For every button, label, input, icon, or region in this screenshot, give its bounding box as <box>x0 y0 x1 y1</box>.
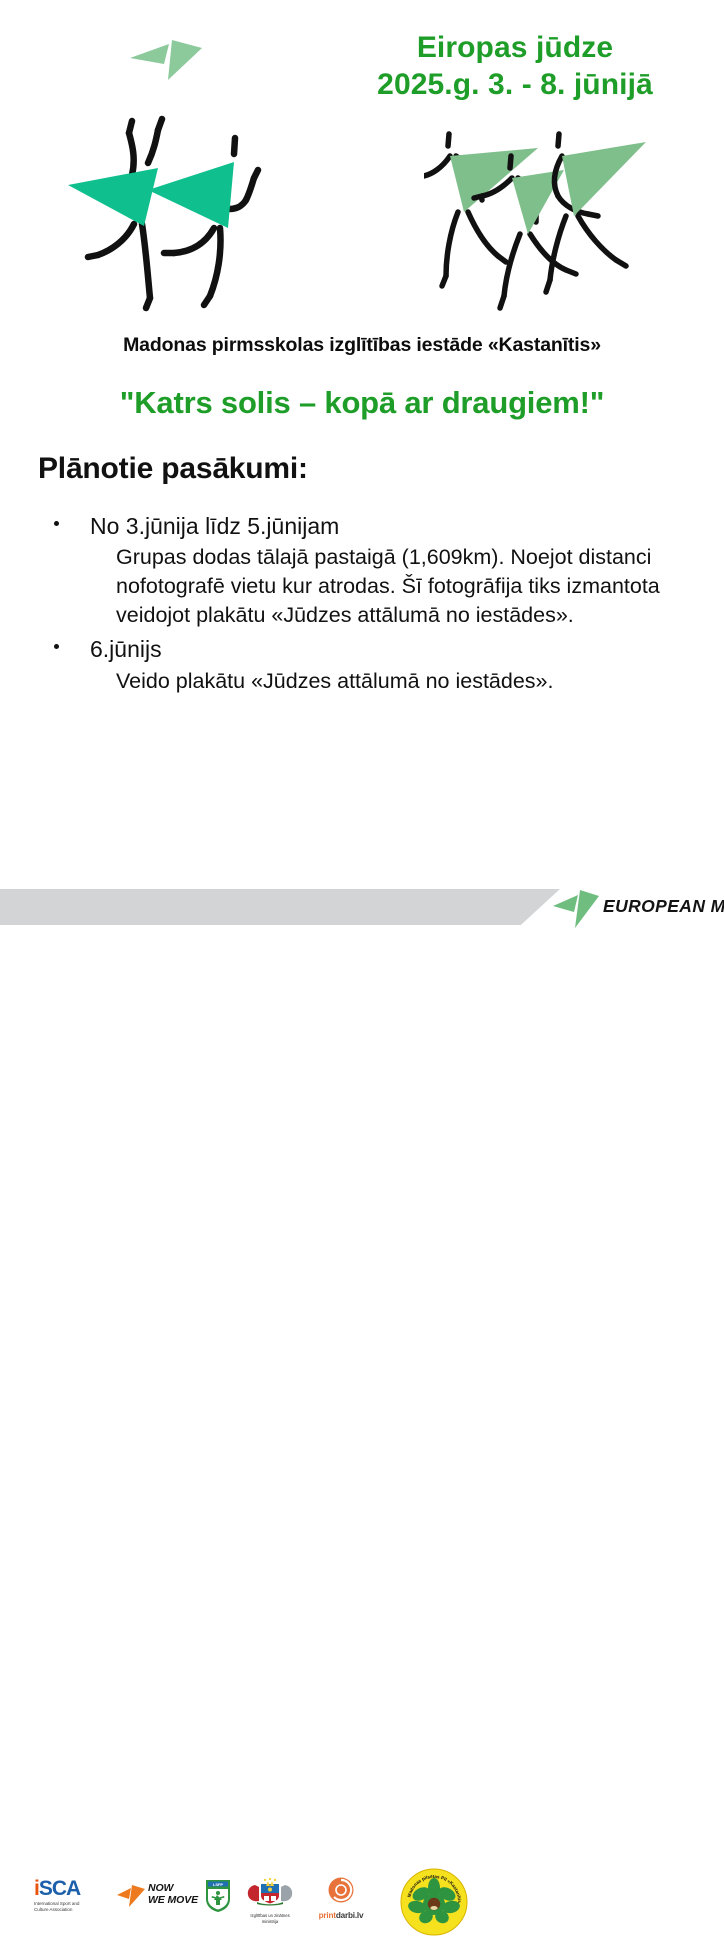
printdarbi-text-print: print <box>319 1911 336 1920</box>
isca-letters-sca: SCA <box>39 1877 80 1900</box>
now-we-move-wordmark: NOW WE MOVE <box>148 1883 198 1907</box>
event-description: Grupas dodas tālajā pastaigā (1,609km). … <box>116 543 676 629</box>
izm-subtitle-line-2: ministrija <box>240 1919 300 1925</box>
now-we-move-arrow-icon <box>116 1882 146 1908</box>
headline-line-1: Eiropas jūdze <box>417 31 613 64</box>
poster-motto: "Katrs solis – kopā ar draugiem!" <box>0 385 724 421</box>
lsfp-shield-logo: LSFP <box>205 1879 231 1913</box>
list-item: 6.jūnijs Veido plakātu «Jūdzes attālumā … <box>38 635 698 695</box>
lsfp-shield-label: LSFP <box>213 1882 224 1887</box>
sponsor-logos-strip: iSCA International Sport and Culture Ass… <box>0 932 724 1012</box>
institution-name: Madonas pirmsskolas izglītības iestāde «… <box>0 334 724 357</box>
now-we-move-logo: NOW WE MOVE <box>116 1882 200 1912</box>
poster-headline: Eiropas jūdze 2025.g. 3. - 8. jūnijā <box>320 30 710 103</box>
poster-canvas: Eiropas jūdze 2025.g. 3. - 8. jūnijā <box>0 0 724 1024</box>
event-title: 6.jūnijs <box>90 635 698 664</box>
izm-coat-of-arms-logo: Izglītības un zinātnes ministrija <box>240 1878 300 1925</box>
bullet-icon <box>54 521 59 526</box>
footer-band <box>0 889 560 925</box>
isca-wordmark: iSCA <box>34 1878 112 1899</box>
shield-icon: LSFP <box>205 1879 231 1913</box>
now-we-move-line-2: WE MOVE <box>148 1895 198 1907</box>
european-mile-mark-icon <box>551 884 603 932</box>
now-we-move-line-1: NOW <box>148 1883 198 1895</box>
headline-line-2: 2025.g. 3. - 8. jūnijā <box>320 67 710 104</box>
european-mile-label: EUROPEAN MILE <box>603 896 724 917</box>
list-item: No 3.jūnija līdz 5.jūnijam Grupas dodas … <box>38 512 698 629</box>
printdarbi-wordmark: printdarbi.lv <box>306 1911 376 1920</box>
isca-subtitle-line-2: Culture Association <box>34 1907 112 1913</box>
planned-events-list: No 3.jūnija līdz 5.jūnijam Grupas dodas … <box>38 512 698 701</box>
coat-of-arms-icon <box>243 1878 297 1906</box>
izm-subtitle: Izglītības un zinātnes ministrija <box>240 1913 300 1925</box>
printdarbi-logo: printdarbi.lv <box>306 1876 376 1920</box>
runners-illustration-right <box>424 120 674 320</box>
kastanitis-emblem: Madonas pilsētas PII «Kastanītis» <box>400 1868 468 1936</box>
european-mile-mark-icon <box>128 28 208 90</box>
isca-subtitle: International Sport and Culture Associat… <box>34 1901 112 1913</box>
section-title-planned-events: Plānotie pasākumi: <box>38 452 308 486</box>
printdarbi-circle-icon <box>327 1876 355 1904</box>
printdarbi-text-darbi: darbi.lv <box>336 1911 364 1920</box>
isca-logo: iSCA International Sport and Culture Ass… <box>34 1878 112 1913</box>
european-mile-logo: EUROPEAN MILE <box>551 884 721 932</box>
event-description: Veido plakātu «Jūdzes attālumā no iestād… <box>116 667 676 696</box>
bullet-icon <box>54 644 59 649</box>
event-title: No 3.jūnija līdz 5.jūnijam <box>90 512 698 541</box>
runners-illustration-left <box>62 100 302 315</box>
